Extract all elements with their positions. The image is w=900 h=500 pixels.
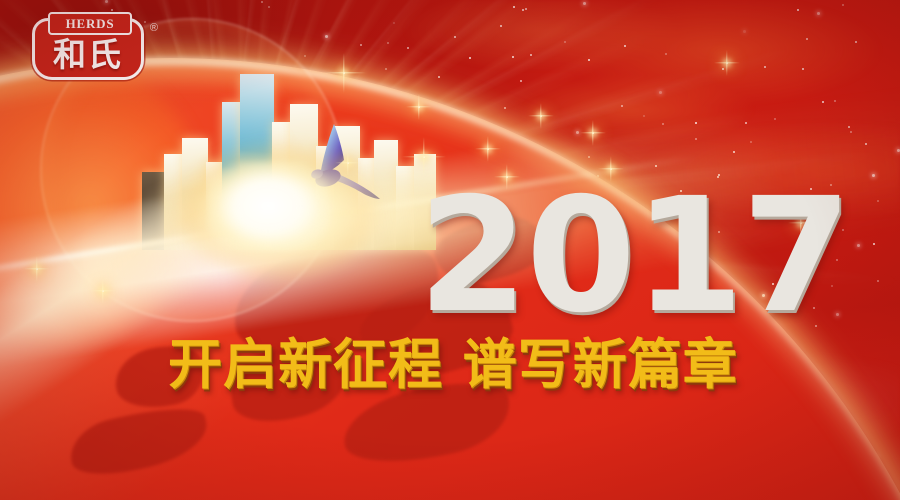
logo-latin-band: HERDS: [48, 12, 132, 35]
sparkle-star: [540, 115, 542, 117]
logo-chinese-name: 和氏: [32, 35, 144, 75]
sparkle-star: [347, 162, 349, 164]
sparkle-star: [487, 148, 489, 150]
year-headline: 2017: [418, 176, 850, 336]
sparkle-star: [418, 106, 420, 108]
new-year-banner: 和氏 HERDS ® 2017 开启新征程 谱写新篇章: [0, 0, 900, 500]
sparkle-star: [726, 62, 728, 64]
sparkle-star: [102, 290, 104, 292]
tagline-text: 开启新征程 谱写新篇章: [168, 334, 778, 396]
sparkle-star: [343, 72, 345, 74]
trademark-icon: ®: [150, 22, 158, 34]
sparkle-star: [423, 156, 425, 158]
sparkle-star: [592, 132, 594, 134]
herds-logo[interactable]: 和氏 HERDS ®: [32, 18, 144, 80]
logo-latin-name: HERDS: [66, 17, 115, 30]
sparkle-star: [36, 268, 38, 270]
light-burst-core: [208, 162, 328, 250]
